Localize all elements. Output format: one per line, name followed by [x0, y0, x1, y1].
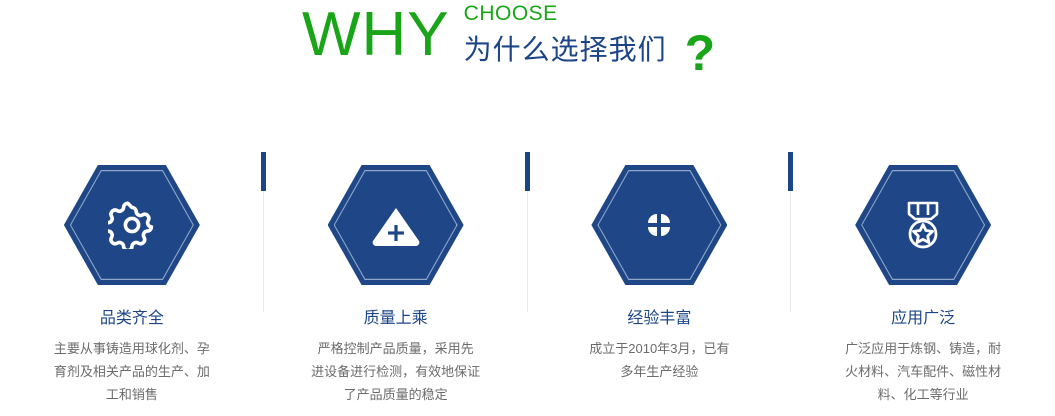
card-description-line: 火材料、汽车配件、磁性材	[816, 360, 1030, 383]
header-question-mark: ?	[685, 31, 716, 75]
card-title: 经验丰富	[627, 309, 691, 329]
hexagon-badge	[64, 165, 200, 285]
header-chinese-row: 为什么选择我们 ?	[464, 28, 716, 72]
card-description-line: 广泛应用于炼钢、铸造，耐	[816, 337, 1030, 360]
hexagon-badge	[591, 165, 727, 285]
card-description: 严格控制产品质量，采用先 进设备进行检测，有效地保证 了产品质量的稳定	[289, 337, 503, 406]
triangle-plus-icon	[328, 165, 464, 285]
card-title: 品类齐全	[100, 309, 164, 329]
column-divider	[790, 152, 791, 312]
card-description-line: 育剂及相关产品的生产、加	[25, 360, 239, 383]
medal-icon	[855, 165, 991, 285]
feature-card: 品类齐全 主要从事铸造用球化剂、孕 育剂及相关产品的生产、加 工和销售	[0, 140, 264, 406]
header-title-group: WHY CHOOSE 为什么选择我们 ?	[302, 0, 715, 72]
header-choose-word: CHOOSE	[464, 2, 716, 26]
feature-card: 经验丰富 成立于2010年3月，已有 多年生产经验	[528, 140, 792, 406]
feature-cards-row: 品类齐全 主要从事铸造用球化剂、孕 育剂及相关产品的生产、加 工和销售	[0, 140, 1055, 406]
card-description-line: 成立于2010年3月，已有	[552, 337, 766, 360]
card-description: 广泛应用于炼钢、铸造，耐 火材料、汽车配件、磁性材 料、化工等行业	[816, 337, 1030, 406]
hexagon-badge	[855, 165, 991, 285]
card-title: 质量上乘	[364, 309, 428, 329]
section-header: WHY CHOOSE 为什么选择我们 ?	[0, 0, 1055, 95]
feature-card: 应用广泛 广泛应用于炼钢、铸造，耐 火材料、汽车配件、磁性材 料、化工等行业	[791, 140, 1055, 406]
gear-icon	[64, 165, 200, 285]
card-description-line: 进设备进行检测，有效地保证	[289, 360, 503, 383]
card-description-line: 工和销售	[25, 383, 239, 406]
card-description: 主要从事铸造用球化剂、孕 育剂及相关产品的生产、加 工和销售	[25, 337, 239, 406]
card-description-line: 严格控制产品质量，采用先	[289, 337, 503, 360]
feature-card: 质量上乘 严格控制产品质量，采用先 进设备进行检测，有效地保证 了产品质量的稳定	[264, 140, 528, 406]
card-description-line: 了产品质量的稳定	[289, 383, 503, 406]
card-description-line: 多年生产经验	[552, 360, 766, 383]
column-divider	[527, 152, 528, 312]
card-description-line: 料、化工等行业	[816, 383, 1030, 406]
header-text-stack: CHOOSE 为什么选择我们 ?	[464, 0, 716, 72]
hexagon-badge	[328, 165, 464, 285]
clover-icon	[591, 165, 727, 285]
card-title: 应用广泛	[891, 309, 955, 329]
header-chinese-title: 为什么选择我们	[464, 34, 667, 66]
card-description-line: 主要从事铸造用球化剂、孕	[25, 337, 239, 360]
card-description: 成立于2010年3月，已有 多年生产经验	[552, 337, 766, 383]
header-why-word: WHY	[302, 0, 450, 66]
column-divider	[263, 152, 264, 312]
